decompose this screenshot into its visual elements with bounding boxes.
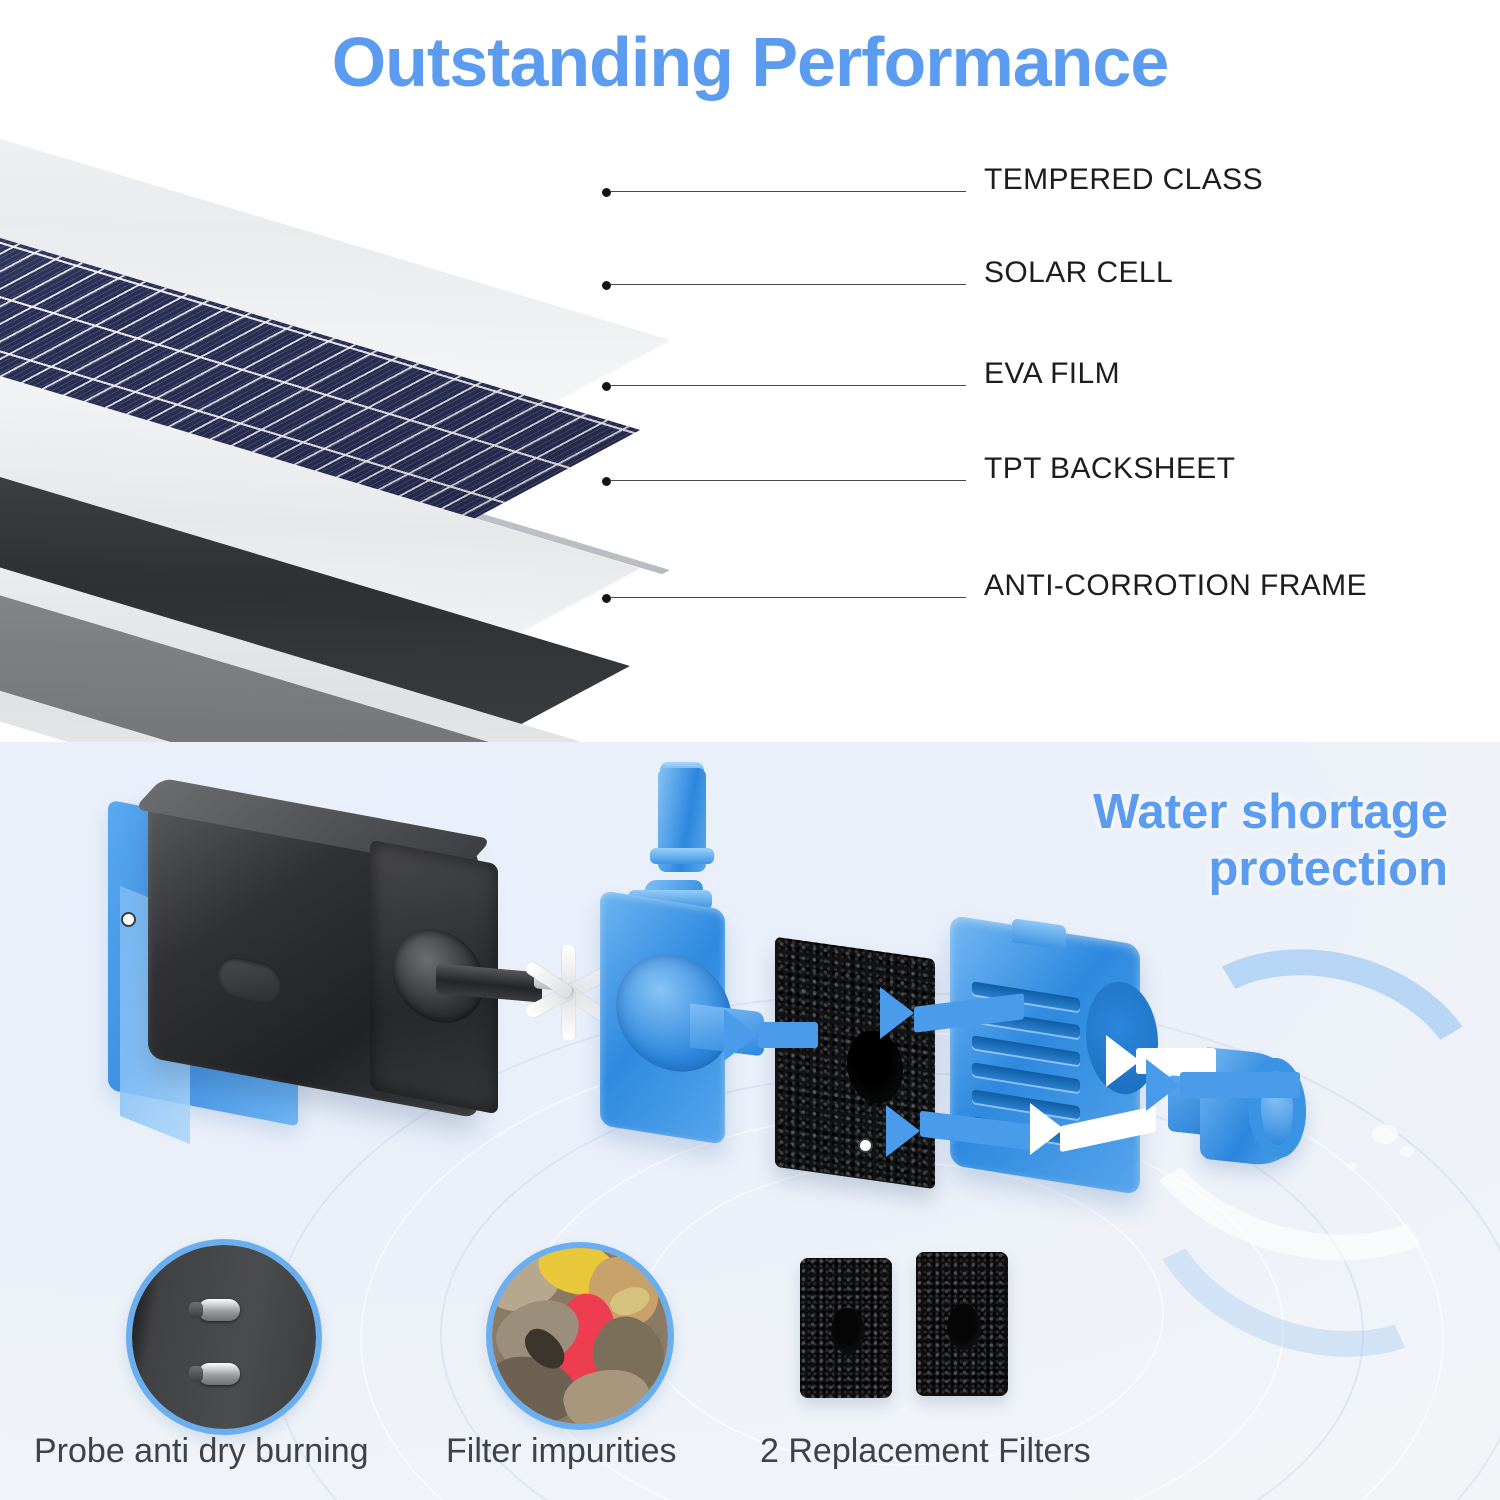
callout-group: TEMPERED CLASS SOLAR CELL EVA FILM TPT B… <box>0 0 1500 742</box>
layer-label-tpt-backsheet: TPT BACKSHEET <box>984 452 1235 486</box>
cage-slot <box>972 1062 1080 1092</box>
arrow-head <box>1106 1035 1140 1087</box>
layer-label-eva-film: EVA FILM <box>984 357 1120 391</box>
layer-label-anti-corrosion-frame: ANTI-CORROTION FRAME <box>984 569 1367 603</box>
arrow-head <box>724 1009 758 1061</box>
callout-dot <box>601 280 612 291</box>
arrow-head <box>1030 1103 1064 1155</box>
callout-line <box>610 385 966 386</box>
arrow-head <box>886 1105 920 1157</box>
replacement-filter-left <box>800 1258 892 1398</box>
solar-panel-section: Outstanding Performance TEMPERED CLASS S… <box>0 0 1500 742</box>
page-title: Outstanding Performance <box>0 22 1500 102</box>
arrow-tail <box>758 1022 818 1048</box>
foam-center-hole <box>947 1304 981 1350</box>
probe-pin <box>198 1363 240 1385</box>
probe-pin <box>198 1299 240 1321</box>
callout-line <box>610 191 966 192</box>
headline-line-2: protection <box>1208 842 1448 896</box>
probe-circle <box>126 1239 322 1435</box>
ripple-ring <box>640 1162 1164 1466</box>
headline-line-1: Water shortage <box>1093 785 1448 839</box>
foam-highlight-marker <box>858 1138 873 1153</box>
callout-dot <box>601 593 612 604</box>
replacement-filter-right <box>916 1252 1008 1396</box>
callout-dot <box>601 187 612 198</box>
cage-slot <box>972 1035 1080 1065</box>
leaf-debris-photo <box>492 1248 668 1424</box>
caption-probe: Probe anti dry burning <box>34 1432 369 1471</box>
section-headline: Water shortage protection <box>808 784 1448 898</box>
callout-line <box>610 284 966 285</box>
layer-label-tempered-glass: TEMPERED CLASS <box>984 163 1263 197</box>
callout-line <box>610 480 966 481</box>
callout-line <box>610 597 966 598</box>
probe-surface <box>132 1245 316 1429</box>
callout-dot <box>601 476 612 487</box>
pump-highlight-marker <box>121 912 136 927</box>
caption-impurities: Filter impurities <box>446 1432 676 1471</box>
arrow-head <box>880 987 914 1039</box>
impurities-circle <box>486 1242 674 1430</box>
callout-dot <box>601 381 612 392</box>
layer-label-solar-cell: SOLAR CELL <box>984 256 1173 290</box>
product-infographic: Outstanding Performance TEMPERED CLASS S… <box>0 0 1500 1500</box>
caption-replacement-filters: 2 Replacement Filters <box>760 1432 1091 1471</box>
pump-outlet-nozzle-rib <box>650 848 714 864</box>
